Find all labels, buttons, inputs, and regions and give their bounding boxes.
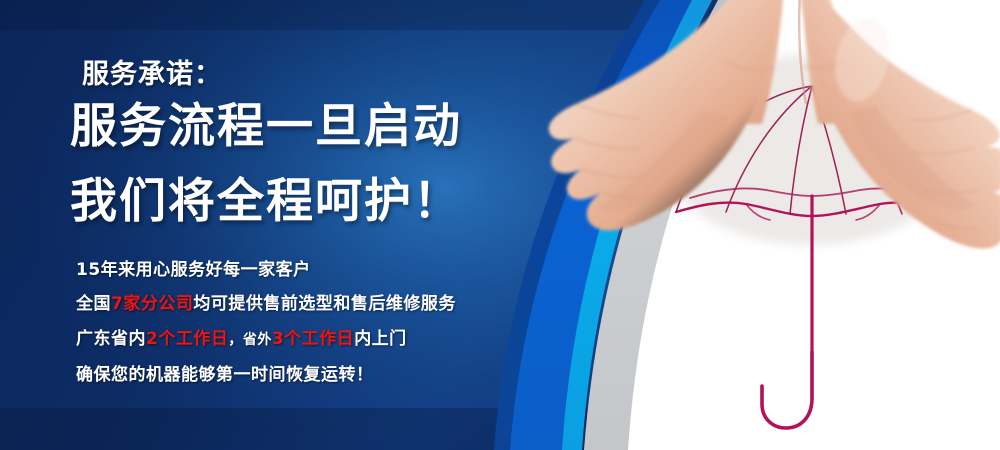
plain-text: 确保您的机器能够第一时间恢复运转！ bbox=[76, 365, 374, 385]
detail-line-3: 广东省内2个工作日，省外3个工作日内上门 bbox=[76, 324, 407, 349]
eyebrow-label: 服务承诺： bbox=[82, 52, 222, 91]
plain-text: 15年来用心服务好每一家客户 bbox=[76, 260, 311, 280]
detail-line-1: 15年来用心服务好每一家客户 bbox=[76, 255, 311, 280]
service-promise-banner: 服务承诺： 服务流程一旦启动 我们将全程呵护！ 15年来用心服务好每一家客户 全… bbox=[0, 0, 1000, 450]
headline-line-2: 我们将全程呵护！ bbox=[70, 178, 462, 225]
detail-line-4: 确保您的机器能够第一时间恢复运转！ bbox=[76, 360, 374, 385]
plain-text: 广东省内 bbox=[76, 329, 146, 349]
plain-text: 均可提供售前选型和售后维修服务 bbox=[193, 294, 456, 314]
plain-text: 内上门 bbox=[354, 329, 407, 349]
plain-text: ，省外 bbox=[228, 332, 272, 348]
highlighted-text: 2个工作日 bbox=[146, 329, 228, 349]
plain-text: 全国 bbox=[76, 294, 111, 314]
highlighted-text: 7家分公司 bbox=[111, 294, 193, 314]
highlighted-text: 3个工作日 bbox=[272, 329, 354, 349]
headline-line-1: 服务流程一旦启动 bbox=[70, 103, 462, 150]
text-content-block: 服务承诺： 服务流程一旦启动 我们将全程呵护！ 15年来用心服务好每一家客户 全… bbox=[0, 0, 560, 450]
detail-line-2: 全国7家分公司均可提供售前选型和售后维修服务 bbox=[76, 289, 456, 314]
